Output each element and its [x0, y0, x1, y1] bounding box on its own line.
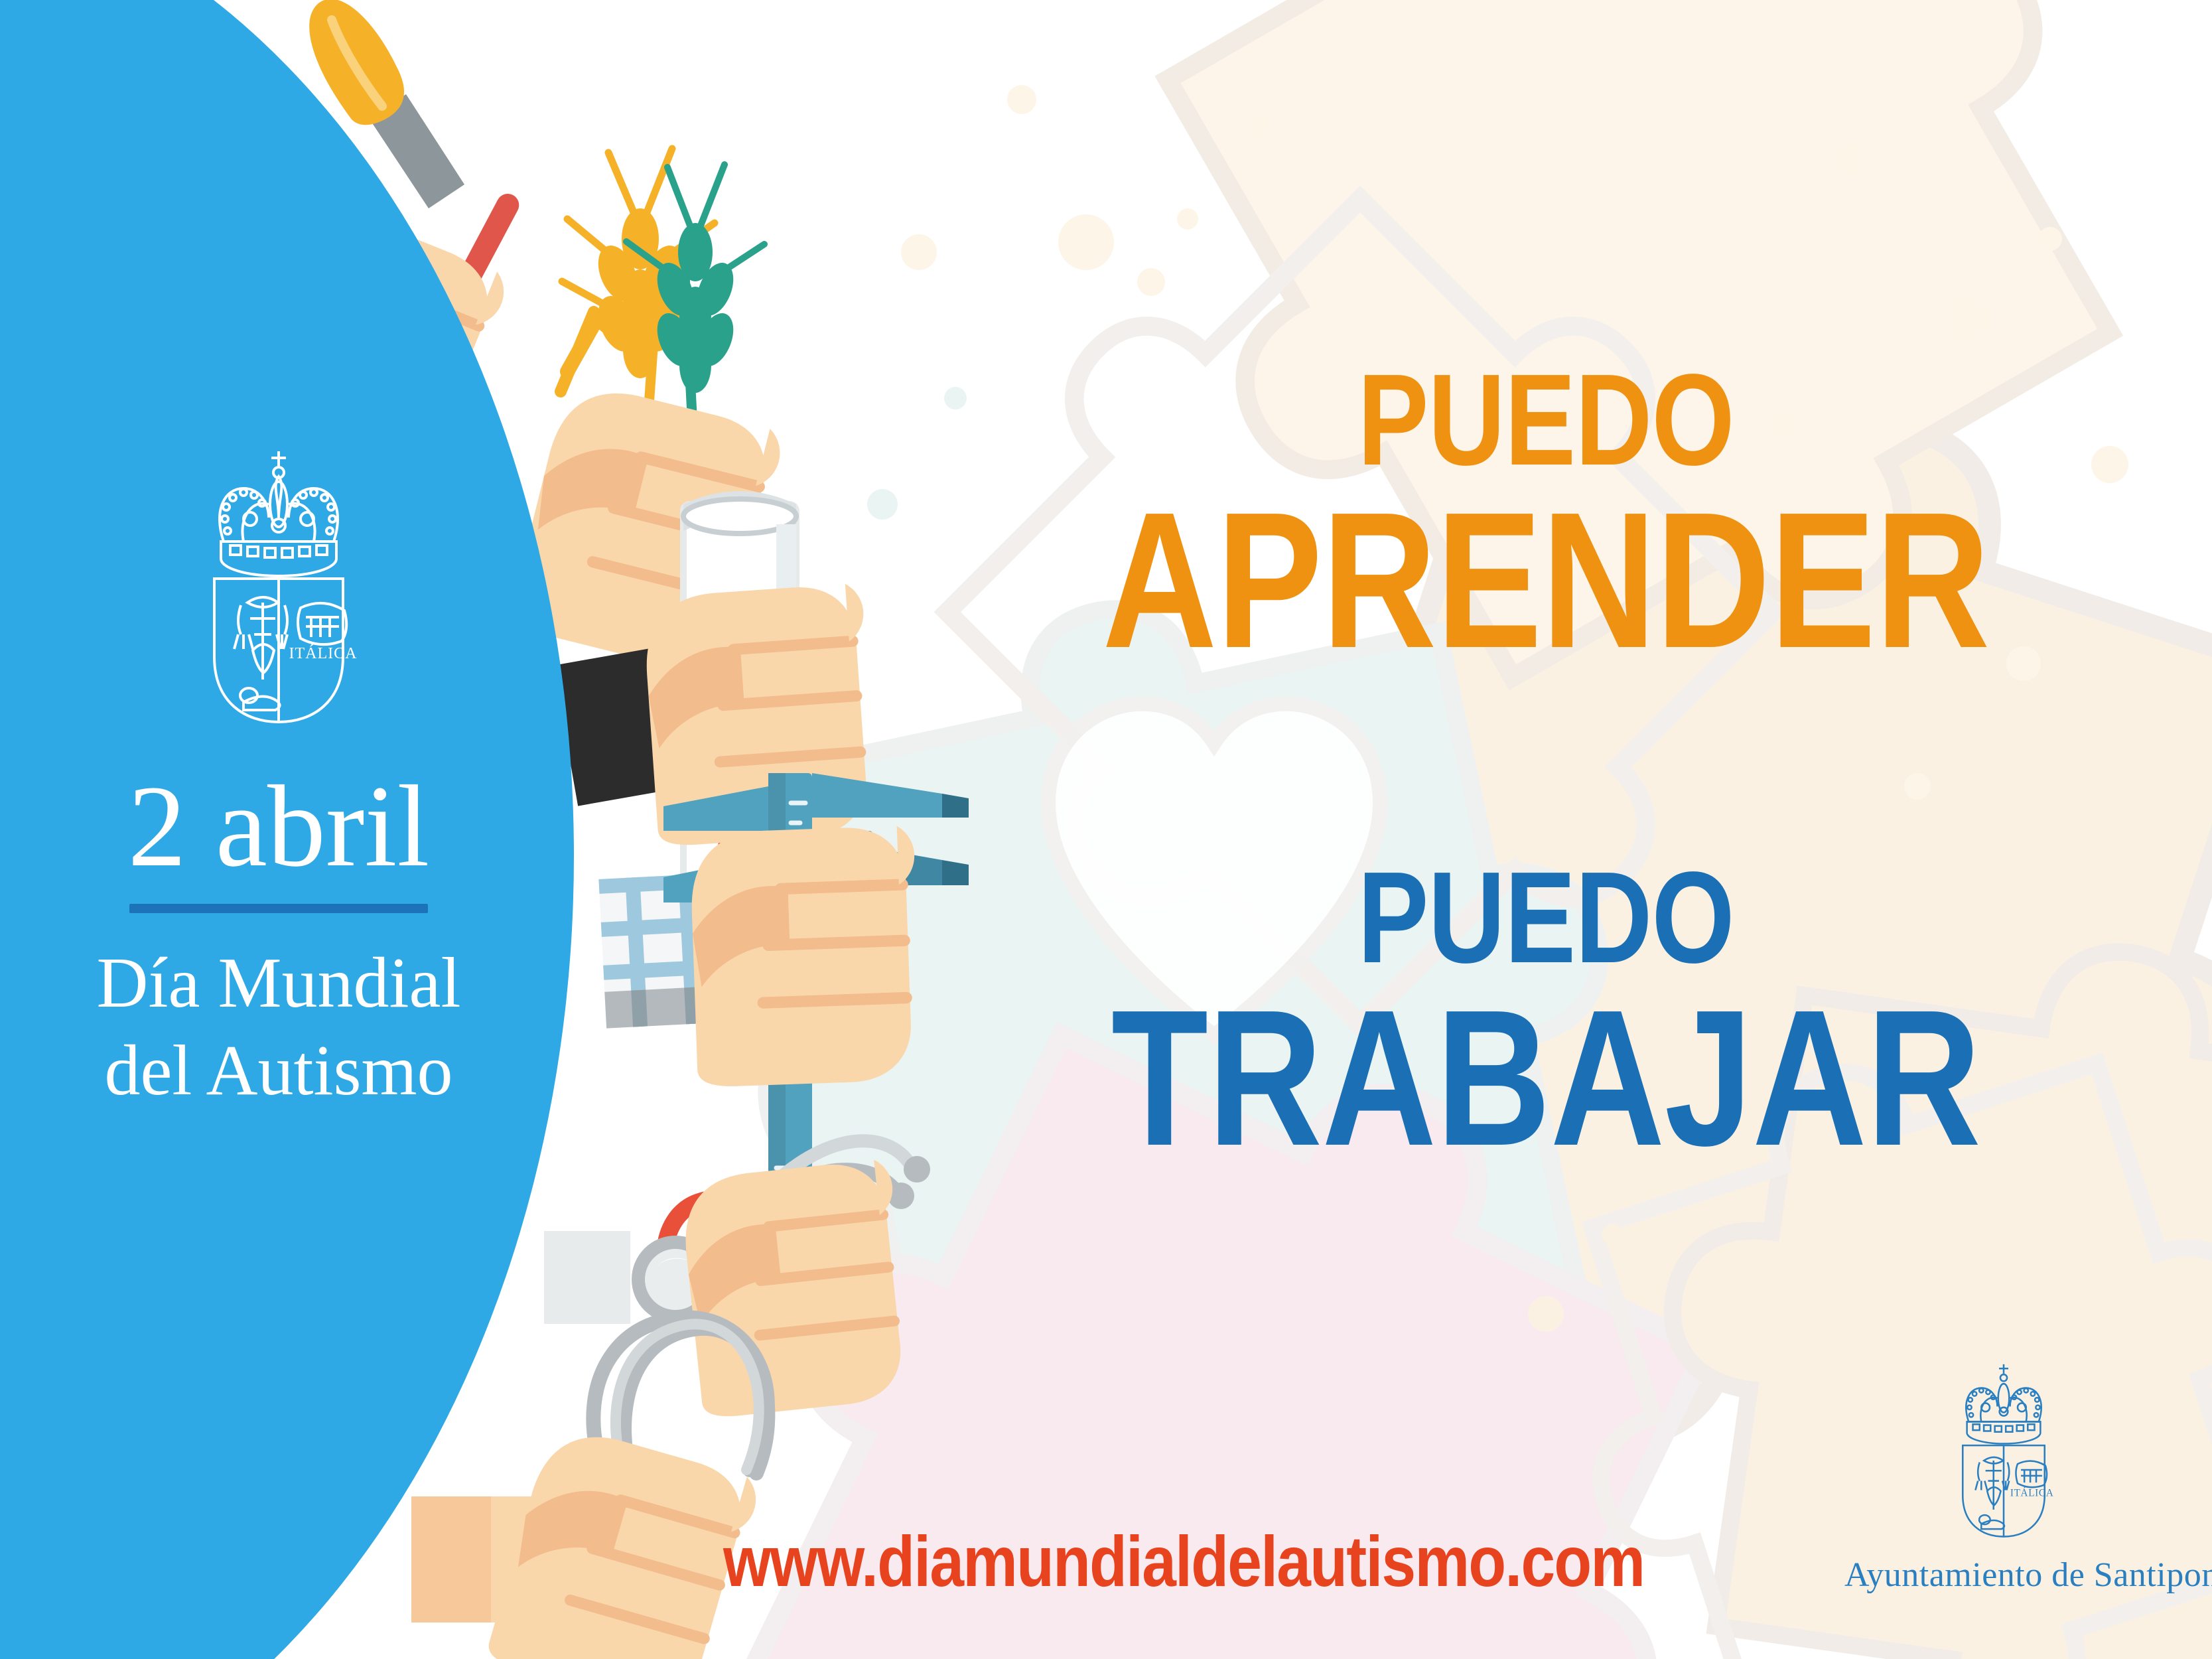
website-url[interactable]: www.diamundialdelautismo.com [723, 1520, 1644, 1603]
crest-italica-label: ITÁLICA [289, 645, 358, 662]
santiponce-coat-of-arms-icon-small: ITÁLICA [1934, 1347, 2073, 1546]
headline-line-puedo-orange: PUEDO [1083, 358, 2008, 482]
headline-line-trabajar: TRABAJAR [1083, 986, 2008, 1170]
headline-trabajar: PUEDO TRABAJAR [982, 856, 2110, 1171]
santiponce-coat-of-arms-icon: ITÁLICA [169, 425, 388, 737]
date-divider [129, 904, 428, 913]
event-subtitle-line-1: Día Mundial [0, 940, 557, 1027]
crest-italica-label-small: ITÁLICA [2010, 1487, 2054, 1498]
town-hall-logo: ITÁLICA Ayuntamiento de Santiponce [1844, 1347, 2163, 1595]
headline-line-puedo-blue: PUEDO [1083, 856, 2008, 979]
autism-day-poster: ITÁLICA 2 abril Día Mundial del Autismo … [0, 0, 2212, 1659]
event-date: 2 abril [0, 768, 557, 885]
left-panel-content: ITÁLICA 2 abril Día Mundial del Autismo [0, 425, 557, 1115]
headline-line-aprender: APRENDER [1083, 488, 2008, 672]
event-subtitle-line-2: del Autismo [0, 1027, 557, 1115]
town-hall-name: Ayuntamiento de Santiponce [1844, 1555, 2163, 1595]
headline-aprender: PUEDO APRENDER [982, 358, 2110, 673]
